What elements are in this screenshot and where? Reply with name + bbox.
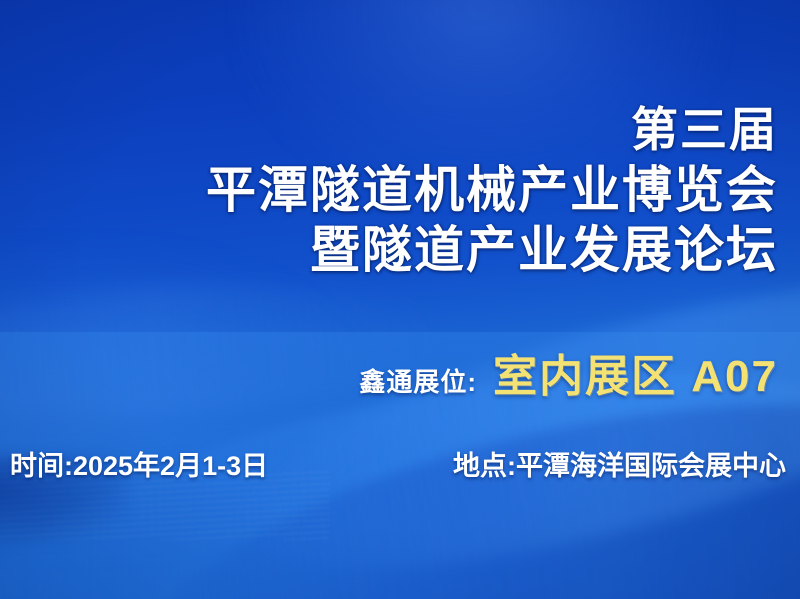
booth-number: 室内展区 A07 [493,340,778,404]
booth-label: 鑫通展位: [359,362,477,399]
poster-content: 第三届 平潭隧道机械产业博览会 暨隧道产业发展论坛 鑫通展位: 室内展区 A07… [0,0,800,599]
event-title-block: 第三届 平潭隧道机械产业博览会 暨隧道产业发展论坛 [0,106,778,275]
booth-info-row: 鑫通展位: 室内展区 A07 [359,340,778,404]
event-venue: 地点:平潭海洋国际会展中心 [453,444,786,483]
event-title-line-2: 平潭隧道机械产业博览会 [0,165,778,215]
event-title-line-3: 暨隧道产业发展论坛 [0,225,778,275]
event-poster: 第三届 平潭隧道机械产业博览会 暨隧道产业发展论坛 鑫通展位: 室内展区 A07… [0,0,800,599]
event-details-row: 时间:2025年2月1-3日 地点:平潭海洋国际会展中心 [10,444,786,483]
event-date: 时间:2025年2月1-3日 [10,444,268,483]
event-title-line-1: 第三届 [0,106,778,153]
